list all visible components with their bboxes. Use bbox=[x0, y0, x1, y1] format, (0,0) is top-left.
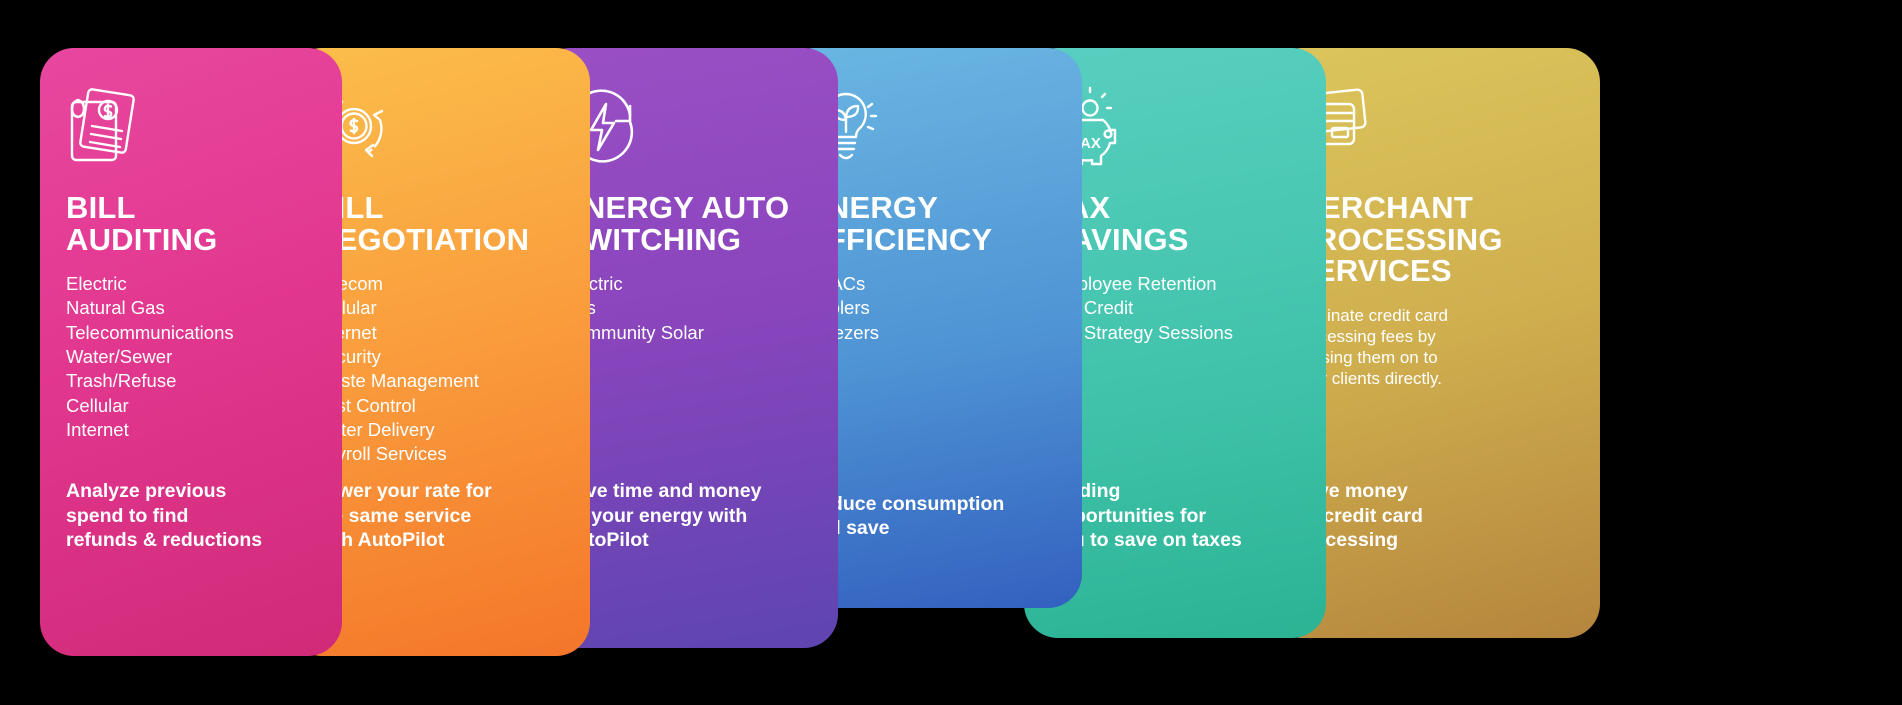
list-item: Electric bbox=[66, 273, 316, 294]
list-item: Cellular bbox=[66, 395, 316, 416]
list-item: Water/Sewer bbox=[66, 346, 316, 367]
card-tagline: Save money on credit card processing bbox=[1294, 479, 1582, 552]
piggy-bank-tax-coin-icon: TAX bbox=[1050, 86, 1300, 178]
list-item: Internet bbox=[314, 322, 564, 343]
list-item: Water Delivery bbox=[314, 419, 564, 440]
card-body-text: Eliminate credit card processing fees by… bbox=[1294, 305, 1574, 389]
list-item: Employee Retention bbox=[1050, 273, 1300, 294]
lightbulb-leaf-icon bbox=[806, 86, 1056, 178]
circular-arrows-dollar-coin-icon bbox=[314, 86, 564, 178]
bottom-notch bbox=[858, 697, 980, 705]
list-item: Security bbox=[314, 346, 564, 367]
service-list: Employee Retention Tax Credit Tax Strate… bbox=[1050, 273, 1300, 346]
list-item: Trash/Refuse bbox=[66, 370, 316, 391]
list-item: Gas bbox=[562, 297, 812, 318]
credit-cards-icon bbox=[1294, 86, 1574, 178]
card-tagline: Analyze previous spend to find refunds &… bbox=[66, 479, 324, 552]
list-item: Coolers bbox=[806, 297, 1056, 318]
service-list: Electric Natural Gas Telecommunications … bbox=[66, 273, 316, 443]
list-item: Electric bbox=[562, 273, 812, 294]
list-item: Natural Gas bbox=[66, 297, 316, 318]
list-item: Waste Management bbox=[314, 370, 564, 391]
service-list: Electric Gas Community Solar bbox=[562, 273, 812, 346]
top-notch-left bbox=[730, 0, 982, 7]
service-card-bill-auditing[interactable]: BILL AUDITING Electric Natural Gas Telec… bbox=[40, 48, 342, 656]
list-item: Internet bbox=[66, 419, 316, 440]
service-list: Telecom Cellular Internet Security Waste… bbox=[314, 273, 564, 467]
services-cards-panel: BILL AUDITING Electric Natural Gas Telec… bbox=[0, 0, 1902, 705]
card-title: BILL NEGOTIATION bbox=[314, 192, 564, 255]
list-item: Tax Credit bbox=[1050, 297, 1300, 318]
circular-arrows-lightning-bolt-icon bbox=[562, 86, 812, 178]
list-item: Tax Strategy Sessions bbox=[1050, 322, 1300, 343]
card-title: ENERGY EFFICIENCY bbox=[806, 192, 1056, 255]
card-tagline: Finding opportunities for you to save on… bbox=[1050, 479, 1308, 552]
card-title: BILL AUDITING bbox=[66, 192, 316, 255]
list-item: Community Solar bbox=[562, 322, 812, 343]
top-notch-right bbox=[1120, 0, 1372, 6]
bill-document-dollar-icon bbox=[66, 86, 316, 178]
list-item: Payroll Services bbox=[314, 443, 564, 464]
list-item: HVACs bbox=[806, 273, 1056, 294]
service-list: HVACs Coolers Freezers bbox=[806, 273, 1056, 346]
card-tagline: Reduce consumption and save bbox=[806, 492, 1064, 540]
card-title: ENERGY AUTO SWITCHING bbox=[562, 192, 812, 255]
list-item: Telecom bbox=[314, 273, 564, 294]
list-item: Pest Control bbox=[314, 395, 564, 416]
list-item: Cellular bbox=[314, 297, 564, 318]
list-item: Freezers bbox=[806, 322, 1056, 343]
card-tagline: Lower your rate for the same service wit… bbox=[314, 479, 572, 552]
card-title: MERCHANT PROCESSING SERVICES bbox=[1294, 192, 1574, 287]
list-item: Telecommunications bbox=[66, 322, 316, 343]
card-title: TAX SAVINGS bbox=[1050, 192, 1300, 255]
card-tagline: Save time and money on your energy with … bbox=[562, 479, 820, 552]
